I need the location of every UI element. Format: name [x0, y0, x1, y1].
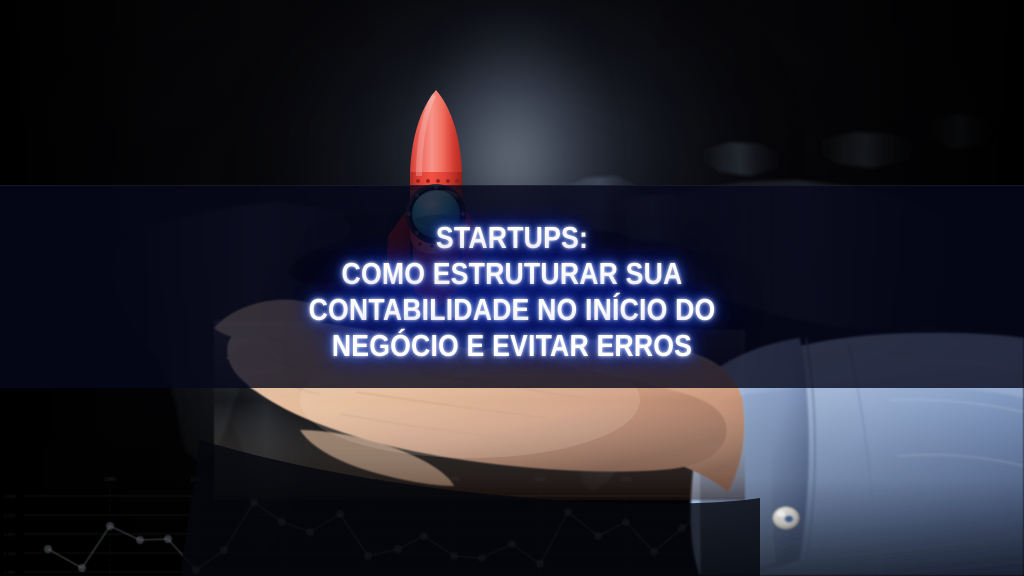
headline-block: STARTUPS: COMO ESTRUTURAR SUA CONTABILID… [0, 222, 1024, 361]
headline-line-3: CONTABILIDADE NO INÍCIO DO [106, 294, 918, 325]
shirt-button [773, 507, 799, 529]
band-top-edge [0, 185, 1024, 186]
headline-line-2: COMO ESTRUTURAR SUA [106, 258, 918, 289]
headline-line-1: STARTUPS: [106, 222, 918, 253]
poster-canvas: 1940 1950 1960 1970 1980 1990 2000 2010 … [0, 0, 1024, 576]
headline-line-4: NEGÓCIO E EVITAR ERROS [106, 330, 918, 361]
